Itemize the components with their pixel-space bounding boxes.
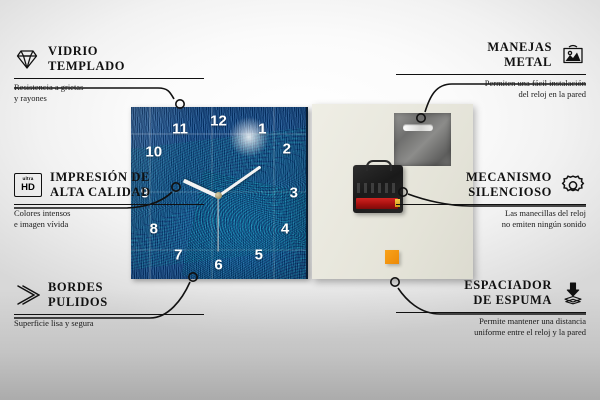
feature-desc-line2: no emiten ningún sonido [396, 219, 586, 230]
feature-title-line2: PULIDOS [48, 295, 108, 310]
feature-desc-line1: Colores intensos [14, 208, 204, 219]
feature-desc-line1: Permite mantener una distancia [396, 316, 586, 327]
feature-rule [396, 74, 586, 76]
feature-title-line1: IMPRESIÓN DE [50, 170, 151, 185]
ultra-hd-icon: ultra HD [14, 173, 42, 197]
feature-vidrio-templado: VIDRIO TEMPLADO Resistencia a grietas y … [14, 44, 204, 105]
feature-title-line2: SILENCIOSO [466, 185, 552, 200]
feature-manejas-metal: MANEJAS METAL Permiten una fácil instala… [396, 40, 586, 101]
infographic-canvas: 12 1 2 3 4 5 6 7 8 9 10 11 [0, 0, 600, 400]
feature-rule [396, 312, 586, 314]
feature-header: BORDES PULIDOS [14, 280, 204, 310]
feature-title-line1: ESPACIADOR [464, 278, 552, 293]
feature-desc-line1: Las manecillas del reloj [396, 208, 586, 219]
picture-hanger-icon [560, 43, 586, 67]
feature-title-line2: METAL [487, 55, 552, 70]
feature-title: VIDRIO TEMPLADO [48, 44, 125, 74]
feature-rule [14, 78, 204, 80]
feature-title: MANEJAS METAL [487, 40, 552, 70]
feature-desc-line1: Resistencia a grietas [14, 82, 204, 93]
feature-bordes-pulidos: BORDES PULIDOS Superficie lisa y segura [14, 280, 204, 329]
feature-desc-line2: y rayones [14, 93, 204, 104]
feature-title-line2: ALTA CALIDAD [50, 185, 151, 200]
feature-impresion-alta-calidad: ultra HD IMPRESIÓN DE ALTA CALIDAD Color… [14, 170, 204, 231]
feature-description: Colores intensos e imagen vívida [14, 208, 204, 231]
gear-icon [560, 173, 586, 197]
feature-title-line1: MECANISMO [466, 170, 552, 185]
feature-title-line1: VIDRIO [48, 44, 125, 59]
feature-title-line2: TEMPLADO [48, 59, 125, 74]
feature-desc-line1: Superficie lisa y segura [14, 318, 204, 329]
feature-title-line1: BORDES [48, 280, 108, 295]
feature-title: MECANISMO SILENCIOSO [466, 170, 552, 200]
connector-dot-manejas [417, 114, 425, 122]
feature-description: Permiten una fácil instalación del reloj… [396, 78, 586, 101]
feature-rule [14, 204, 204, 206]
feature-desc-line2: del reloj en la pared [396, 89, 586, 100]
feature-header: ESPACIADOR DE ESPUMA [396, 278, 586, 308]
feature-title: IMPRESIÓN DE ALTA CALIDAD [50, 170, 151, 200]
feature-title: ESPACIADOR DE ESPUMA [464, 278, 552, 308]
feature-header: MECANISMO SILENCIOSO [396, 170, 586, 200]
feature-desc-line2: e imagen vívida [14, 219, 204, 230]
foam-spacer-icon [560, 281, 586, 305]
feature-espaciador-espuma: ESPACIADOR DE ESPUMA Permite mantener un… [396, 278, 586, 339]
feature-description: Superficie lisa y segura [14, 318, 204, 329]
feature-header: MANEJAS METAL [396, 40, 586, 70]
feature-description: Resistencia a grietas y rayones [14, 82, 204, 105]
ultra-hd-icon-large-text: HD [21, 183, 35, 193]
polished-edges-icon [14, 283, 40, 307]
feature-title-line2: DE ESPUMA [464, 293, 552, 308]
feature-title: BORDES PULIDOS [48, 280, 108, 310]
feature-title-line1: MANEJAS [487, 40, 552, 55]
diamond-icon [14, 47, 40, 71]
feature-desc-line1: Permiten una fácil instalación [396, 78, 586, 89]
feature-description: Las manecillas del reloj no emiten ningú… [396, 208, 586, 231]
feature-header: ultra HD IMPRESIÓN DE ALTA CALIDAD [14, 170, 204, 200]
feature-rule [396, 204, 586, 206]
feature-header: VIDRIO TEMPLADO [14, 44, 204, 74]
feature-description: Permite mantener una distancia uniforme … [396, 316, 586, 339]
feature-mecanismo-silencioso: MECANISMO SILENCIOSO Las manecillas del … [396, 170, 586, 231]
feature-rule [14, 314, 204, 316]
feature-desc-line2: uniforme entre el reloj y la pared [396, 327, 586, 338]
